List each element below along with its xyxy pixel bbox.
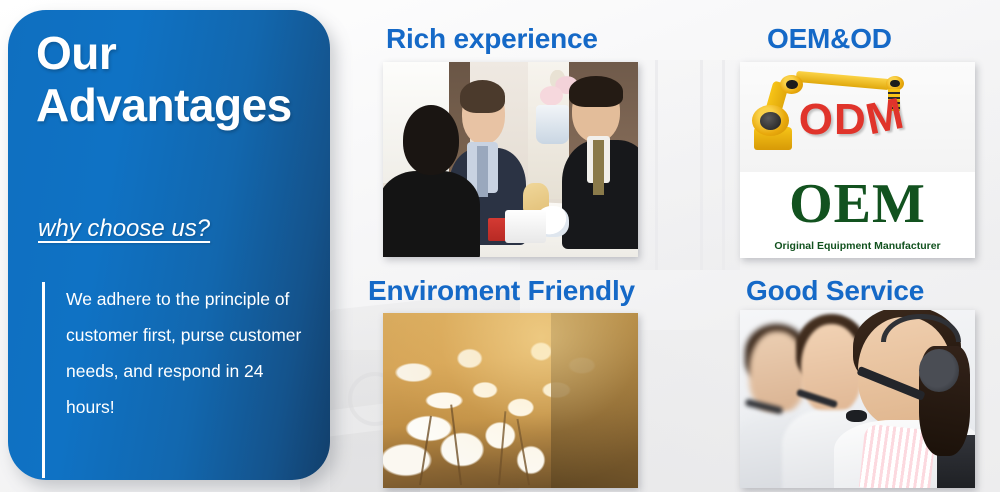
panel-body-text: We adhere to the principle of customer f… [66,282,316,426]
photo-cotton-field [383,313,638,488]
panel-subtitle: why choose us? [38,215,210,243]
oem-wordmark: OEM [740,172,975,236]
odm-wordmark: ODM [799,95,968,145]
odm-text: ODM [799,95,905,144]
photo-oem-odm: ODM OEM Original Equipment Manufacturer [740,62,975,258]
advantages-panel: Our Advantages why choose us? We adhere … [8,10,330,480]
photo-rich-experience [383,62,638,257]
panel-vertical-rule [42,282,45,478]
panel-title: Our Advantages [36,28,292,131]
panel-title-line-1: Our [36,28,292,80]
advantages-banner: Our Advantages why choose us? We adhere … [0,0,1000,492]
card-title-good-service: Good Service [746,275,924,307]
panel-title-line-2: Advantages [36,80,292,132]
photo-call-center [740,310,975,488]
card-title-rich-experience: Rich experience [386,23,598,55]
oem-caption: Original Equipment Manufacturer [740,240,975,252]
card-title-oem-odm: OEM&OD [767,23,892,55]
card-title-enviroment-friendly: Enviroment Friendly [368,275,635,307]
